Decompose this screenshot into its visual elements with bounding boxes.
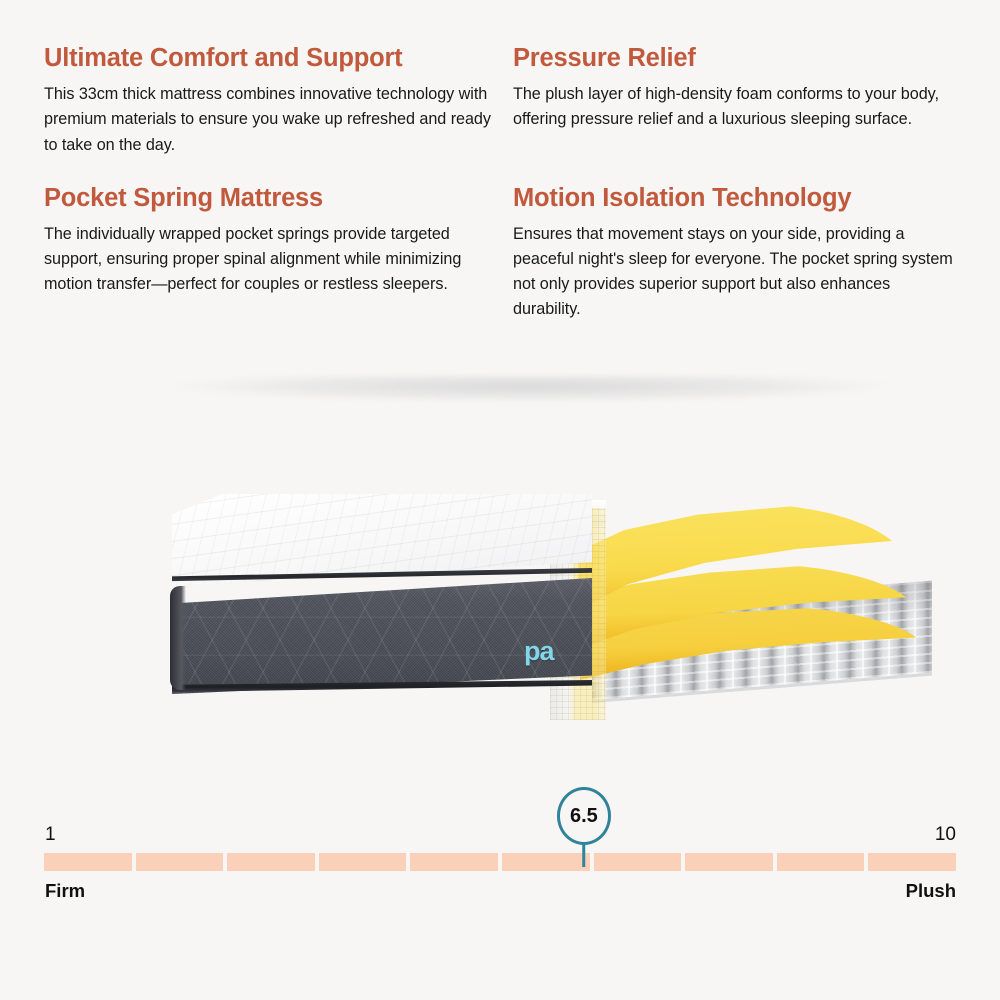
scale-endpoint-labels: Firm Plush — [44, 880, 956, 904]
scale-label-firm: Firm — [45, 880, 85, 902]
feature-block-ultimate-comfort-and-support: Ultimate Comfort and Support This 33cm t… — [44, 44, 499, 158]
scale-min-number: 1 — [45, 824, 56, 846]
scale-segment[interactable] — [136, 853, 224, 871]
feature-body: The plush layer of high-density foam con… — [509, 82, 956, 132]
feature-block-pocket-spring-mattress: Pocket Spring Mattress The individually … — [44, 184, 499, 323]
feature-title: Motion Isolation Technology — [509, 184, 956, 213]
feature-grid: Ultimate Comfort and Support This 33cm t… — [0, 0, 1000, 322]
scale-segment[interactable] — [44, 853, 132, 871]
feature-block-pressure-relief: Pressure Relief The plush layer of high-… — [509, 44, 956, 158]
scale-segment[interactable] — [868, 853, 956, 871]
scale-segment[interactable] — [319, 853, 407, 871]
foam-layer-top — [578, 504, 910, 622]
scale-endpoint-numbers: 1 10 — [44, 820, 956, 846]
mattress-left-edge — [170, 586, 186, 690]
mattress-drop-shadow — [170, 376, 890, 402]
feature-body: The individually wrapped pocket springs … — [44, 222, 499, 297]
scale-segment[interactable] — [594, 853, 682, 871]
product-cutaway-image: pa — [40, 376, 1000, 776]
scale-segment[interactable] — [502, 853, 590, 871]
feature-body: Ensures that movement stays on your side… — [509, 222, 956, 322]
scale-segment[interactable] — [777, 853, 865, 871]
feature-title: Pressure Relief — [509, 44, 956, 73]
scale-label-plush: Plush — [906, 880, 956, 902]
brand-logo: pa — [524, 636, 556, 667]
feature-block-motion-isolation-technology: Motion Isolation Technology Ensures that… — [509, 184, 956, 323]
scale-segment[interactable] — [410, 853, 498, 871]
firmness-track[interactable]: 6.5 — [44, 853, 956, 871]
scale-max-number: 10 — [935, 824, 956, 846]
firmness-scale: 1 10 6.5 Firm Plush — [44, 820, 956, 904]
scale-segment[interactable] — [227, 853, 315, 871]
feature-title: Ultimate Comfort and Support — [44, 44, 499, 73]
mattress-body: pa — [172, 494, 592, 694]
feature-title: Pocket Spring Mattress — [44, 184, 499, 213]
feature-body: This 33cm thick mattress combines innova… — [44, 82, 499, 157]
foam-slab — [578, 504, 910, 622]
marker-value-bubble: 6.5 — [557, 787, 611, 845]
scale-segment[interactable] — [685, 853, 773, 871]
